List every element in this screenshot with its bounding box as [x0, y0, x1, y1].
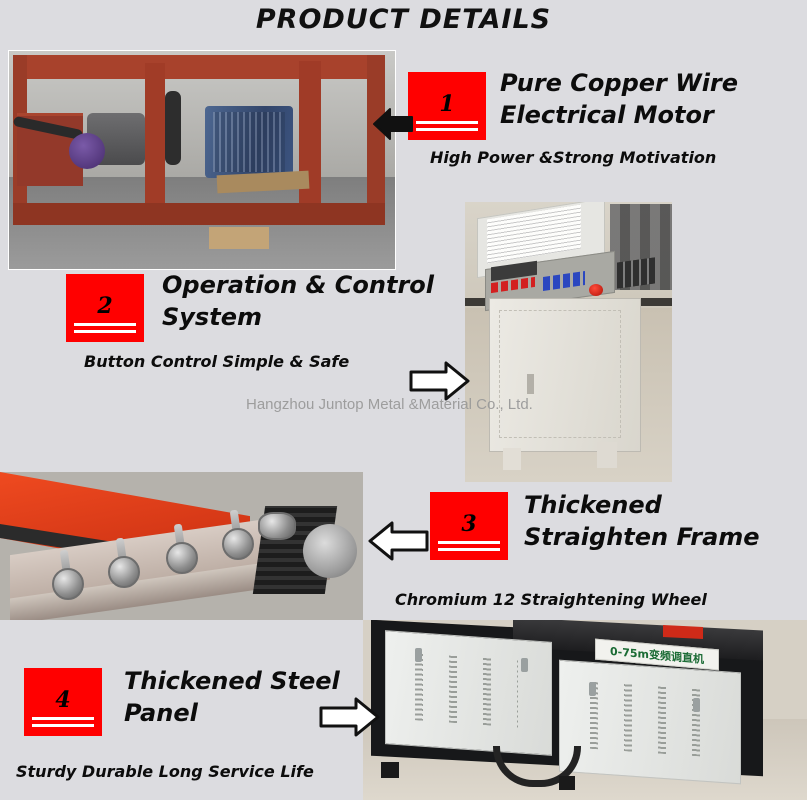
- callout-2-subline: Button Control Simple & Safe: [84, 352, 434, 371]
- control-cabinet-photo: [465, 202, 672, 482]
- badge-underline-2: [32, 724, 94, 727]
- badge-underline-2: [438, 548, 500, 551]
- callout-1-subline: High Power &Strong Motivation: [430, 148, 738, 167]
- straightening-wheel-4: [222, 528, 254, 560]
- callout-4-headline-line1: Thickened Steel: [124, 666, 340, 698]
- straightening-wheel-3: [166, 542, 198, 574]
- numeric-keypad: [617, 257, 655, 288]
- callout-4-arrow-right-icon: [318, 694, 380, 740]
- straightening-wheel-2: [108, 556, 140, 588]
- page-title: PRODUCT DETAILS: [0, 4, 807, 35]
- badge-underline-1: [416, 121, 478, 124]
- frame-beam-top: [13, 55, 385, 79]
- callout-3-arrow-left-icon: [368, 518, 430, 564]
- callout-3-badge: 3: [430, 492, 508, 560]
- callout-3-headline-line2: Straighten Frame: [524, 522, 760, 554]
- large-pulley-wheel: [303, 524, 357, 578]
- callout-2-headline-line1: Operation & Control: [162, 270, 434, 302]
- callout-2: 2 Operation & Control System Button Cont…: [66, 274, 434, 371]
- frame-beam-bottom: [13, 203, 385, 225]
- cabinet-latch: [527, 374, 534, 394]
- callout-3-number: 3: [430, 511, 508, 537]
- machine-foot-mid: [559, 776, 575, 790]
- callout-1-number: 1: [408, 91, 486, 117]
- purple-pump: [69, 133, 105, 169]
- cabinet-leg-right: [597, 442, 617, 468]
- blue-electric-motor: [205, 106, 293, 178]
- callout-2-number: 2: [66, 293, 144, 319]
- straighten-frame-photo: [0, 472, 363, 620]
- callout-4-badge: 4: [24, 668, 102, 736]
- cable-bundle: [165, 91, 181, 165]
- straightening-wheel-5: [258, 512, 296, 540]
- callout-4-subline: Sturdy Durable Long Service Life: [16, 762, 314, 781]
- callout-1-arrow-left-icon: [372, 104, 414, 144]
- callout-4: 4 Thickened Steel Panel: [24, 668, 340, 736]
- callout-1-headline-line2: Electrical Motor: [500, 100, 738, 132]
- callout-1-badge: 1: [408, 72, 486, 140]
- callout-4-headline-line2: Panel: [124, 698, 340, 730]
- callout-2-badge: 2: [66, 274, 144, 342]
- callout-1-headline-line1: Pure Copper Wire: [500, 68, 738, 100]
- panel-hook-2: [521, 658, 528, 672]
- badge-underline-2: [74, 330, 136, 333]
- machine-red-part: [663, 625, 703, 639]
- badge-underline-2: [416, 128, 478, 131]
- callout-3-headline-line1: Thickened: [524, 490, 760, 522]
- callout-1: 1 Pure Copper Wire Electrical Motor High…: [408, 72, 738, 167]
- panel-hook-3: [589, 682, 596, 696]
- callout-3-subline: Chromium 12 Straightening Wheel: [395, 590, 707, 609]
- machine-foot-left: [381, 762, 399, 778]
- badge-underline-1: [438, 541, 500, 544]
- frame-beam-mid2: [299, 61, 321, 225]
- panel-hook-1: [415, 648, 422, 662]
- ventilation-louvres-right: [578, 680, 704, 757]
- steel-panel-left: [385, 630, 552, 756]
- electrical-motor-photo: [8, 50, 396, 270]
- frame-beam-mid1: [145, 63, 165, 225]
- cabinet-door: [499, 310, 621, 438]
- emergency-stop-button: [589, 284, 603, 296]
- wood-pallet: [209, 227, 269, 249]
- watermark-text: Hangzhou Juntop Metal &Material Co., Ltd…: [246, 396, 533, 413]
- callout-2-headline-line2: System: [162, 302, 434, 334]
- panel-hook-4: [693, 698, 700, 712]
- callout-4-number: 4: [24, 687, 102, 713]
- callout-3: 3 Thickened Straighten Frame: [430, 492, 760, 560]
- badge-underline-1: [32, 717, 94, 720]
- steel-panel-photo: 0-75m变频调直机: [363, 620, 807, 800]
- steel-panel-right: [559, 660, 741, 785]
- infographic-canvas: PRODUCT DETAILS: [0, 0, 807, 800]
- cabinet-leg-left: [503, 448, 521, 470]
- badge-underline-1: [74, 323, 136, 326]
- straightening-wheel-1: [52, 568, 84, 600]
